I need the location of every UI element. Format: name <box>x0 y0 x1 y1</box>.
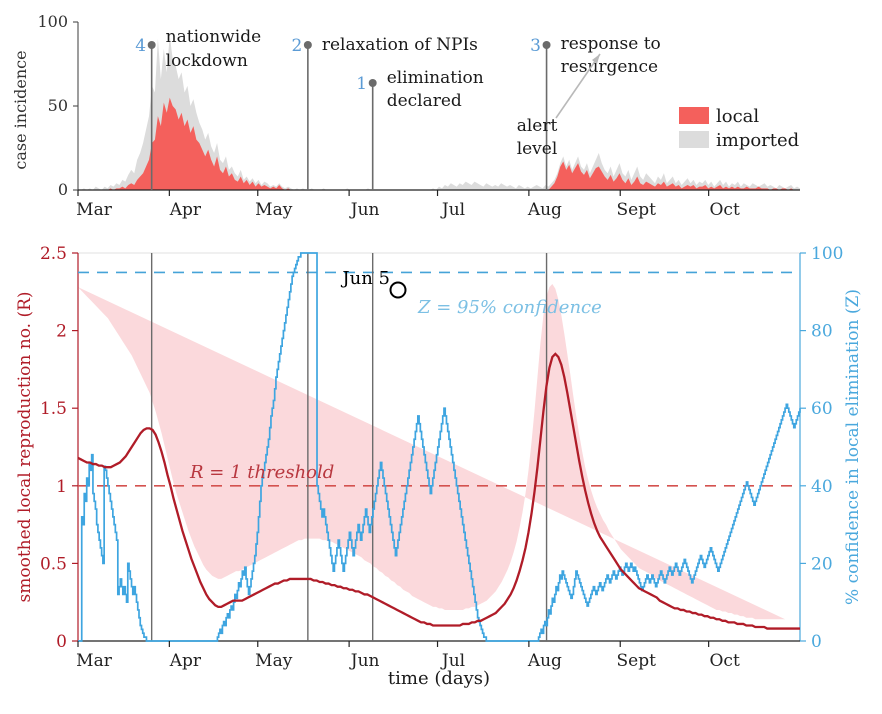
top-x-tick-label: Mar <box>76 200 113 220</box>
r-threshold-label: R = 1 threshold <box>189 462 334 483</box>
bottom-x-axis-label: time (days) <box>388 668 490 689</box>
bottom-right-tick-label: 80 <box>811 322 833 342</box>
bottom-left-tick-label: 0.5 <box>40 554 67 574</box>
bottom-right-tick-label: 40 <box>811 477 833 497</box>
top-y-tick-label: 100 <box>37 12 68 31</box>
bottom-x-tick-label: Oct <box>709 651 739 671</box>
event-dot-2 <box>304 41 312 49</box>
bottom-right-tick-label: 20 <box>811 554 833 574</box>
bottom-x-tick-label: May <box>255 651 293 671</box>
bottom-left-tick-label: 0 <box>56 632 67 652</box>
bottom-right-axis-label: % confidence in local elimination (Z) <box>843 289 863 605</box>
event-number-2: 2 <box>291 36 302 56</box>
event-label-3-line1: response to <box>561 34 661 54</box>
bottom-right-tick-label: 0 <box>811 632 822 652</box>
event-label-4-line2: lockdown <box>166 51 248 71</box>
bottom-left-tick-label: 1 <box>56 477 67 497</box>
jun5-marker <box>391 283 406 298</box>
legend-label-local: local <box>716 106 759 127</box>
top-x-tick-label: Jul <box>440 200 465 220</box>
event-label-4-line1: nationwide <box>166 27 261 47</box>
bottom-left-tick-label: 2.5 <box>40 244 67 264</box>
legend-label-imported: imported <box>716 130 799 151</box>
top-x-tick-label: Sept <box>617 200 657 220</box>
bottom-right-tick-label: 100 <box>811 244 843 264</box>
figure-container: 050100case incidenceMarAprMayJunJulAugSe… <box>0 0 882 714</box>
top-x-tick-label: Apr <box>169 200 202 220</box>
event-dot-3 <box>543 41 551 49</box>
top-x-tick-label: Jun <box>349 200 380 220</box>
top-y-tick-label: 50 <box>48 96 68 115</box>
top-y-tick-label: 0 <box>58 180 68 199</box>
bottom-x-tick-label: Mar <box>76 651 113 671</box>
event-number-3: 3 <box>530 36 541 56</box>
bottom-left-tick-label: 1.5 <box>40 399 67 419</box>
event-dot-4 <box>148 41 156 49</box>
event-label-3-line2: resurgence <box>561 57 658 77</box>
top-x-tick-label: Aug <box>527 200 562 220</box>
bottom-right-tick-label: 60 <box>811 399 833 419</box>
jun5-label: Jun 5 <box>340 268 390 289</box>
alert-level-label-line2: level <box>517 139 558 159</box>
bottom-x-tick-label: Aug <box>527 651 562 671</box>
event-number-4: 4 <box>135 36 146 56</box>
alert-level-label-line1: alert <box>517 116 558 136</box>
top-x-tick-label: Oct <box>709 200 739 220</box>
r-confidence-band <box>78 284 785 619</box>
legend-swatch-local <box>679 107 709 124</box>
event-label-1-line1: elimination <box>387 68 484 88</box>
z-confidence-label: Z = 95% confidence <box>417 297 602 318</box>
bottom-left-tick-label: 2 <box>56 322 67 342</box>
bottom-left-axis-label: smoothed local reproduction no. (R) <box>15 291 35 602</box>
legend-swatch-imported <box>679 131 709 148</box>
bottom-x-tick-label: Jun <box>349 651 380 671</box>
top-x-tick-label: May <box>255 200 293 220</box>
event-label-2-line1: relaxation of NPIs <box>322 35 478 55</box>
bottom-x-tick-label: Apr <box>169 651 202 671</box>
event-dot-1 <box>369 79 377 87</box>
top-y-axis-label: case incidence <box>11 50 30 169</box>
event-label-1-line2: declared <box>387 91 462 111</box>
bottom-x-tick-label: Sept <box>617 651 657 671</box>
event-number-1: 1 <box>356 74 367 94</box>
figure-svg: 050100case incidenceMarAprMayJunJulAugSe… <box>0 0 882 714</box>
